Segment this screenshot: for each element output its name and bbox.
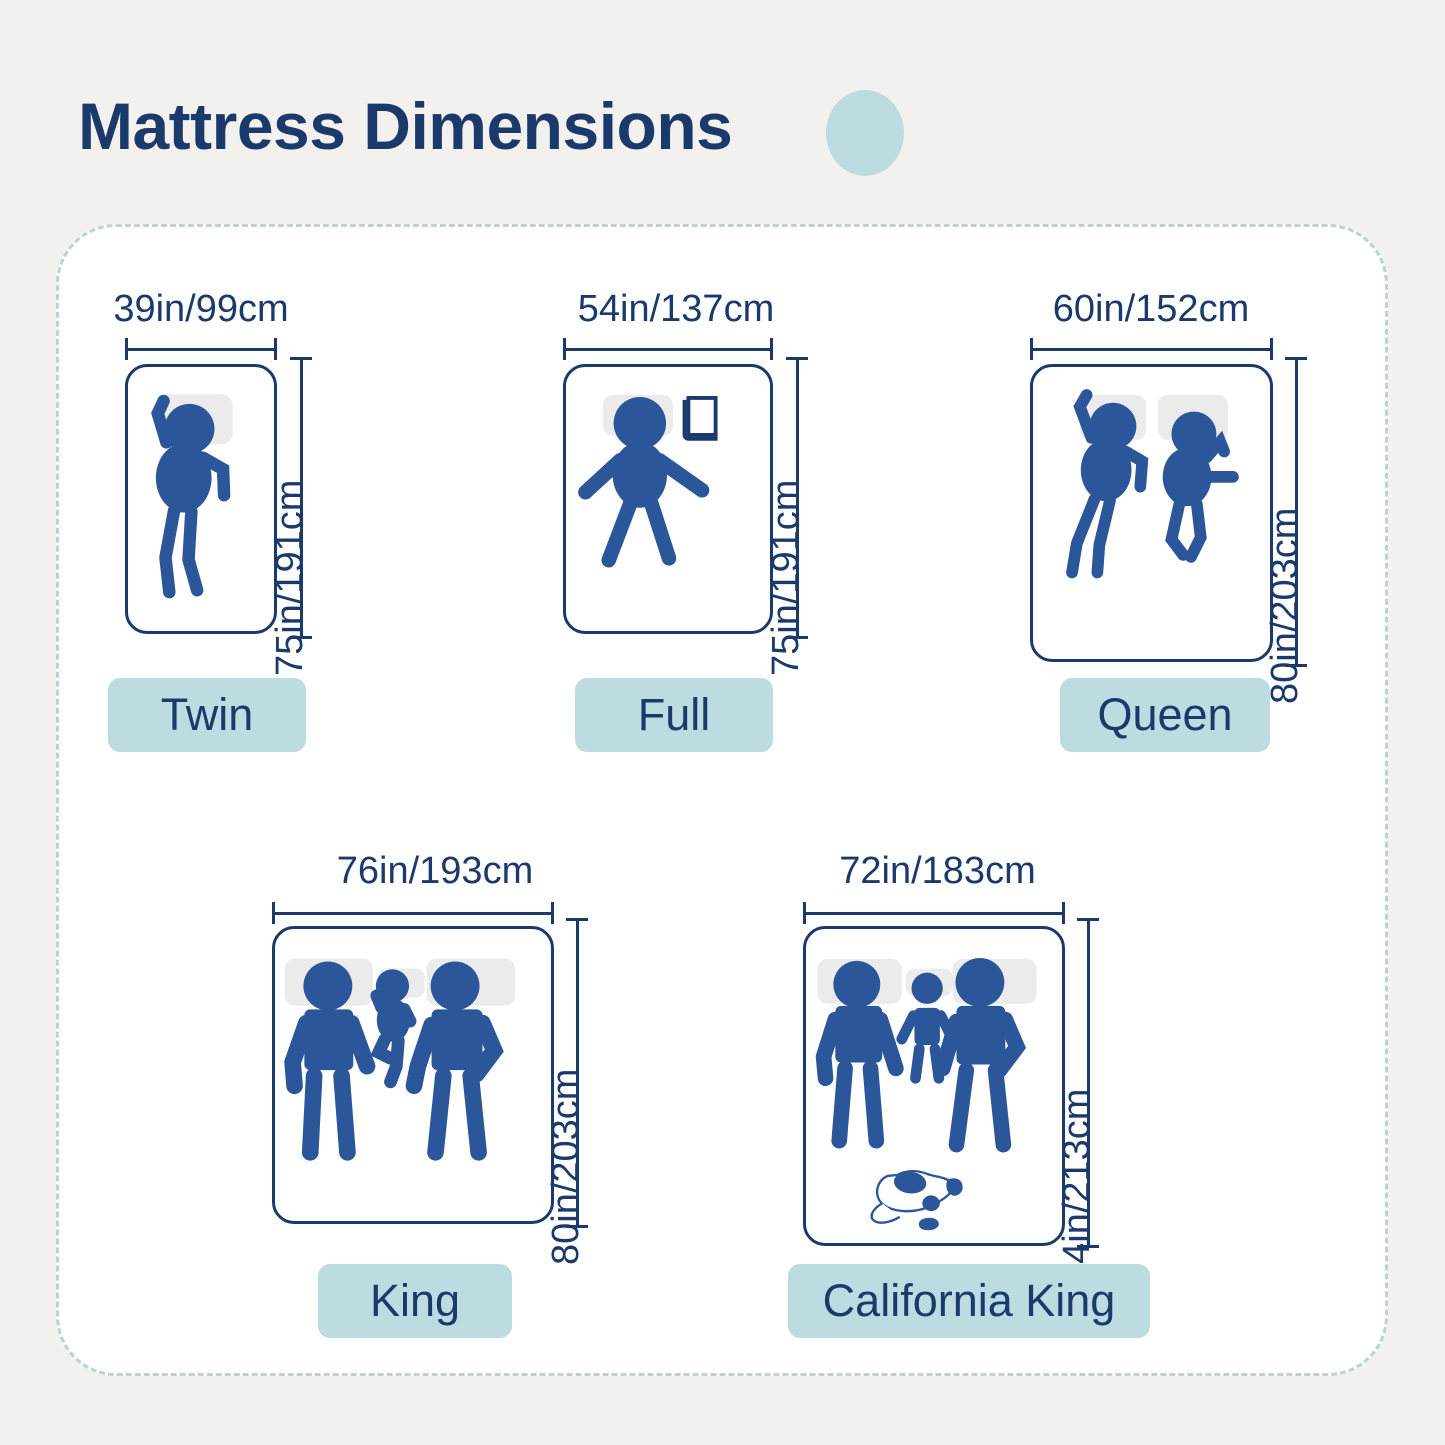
full-illustration: [566, 367, 770, 631]
full-width-measure: [563, 338, 773, 360]
queen-width-measure: [1030, 338, 1273, 360]
twin-width-label: 39in/99cm: [86, 288, 316, 331]
queen-width-label: 60in/152cm: [1022, 288, 1280, 331]
calking-width-label: 72in/183cm: [800, 850, 1075, 893]
bed-label-queen[interactable]: Queen: [1060, 678, 1270, 752]
twin-height-label: 75in/191cm: [269, 480, 312, 676]
king-width-label: 76in/193cm: [290, 850, 580, 893]
calking-mattress: [803, 926, 1065, 1246]
bed-label-california-king[interactable]: California King: [788, 1264, 1150, 1338]
king-width-measure: [272, 902, 554, 924]
twin-illustration: [128, 367, 274, 631]
queen-height-label: 80in/203cm: [1264, 508, 1307, 704]
page-title: Mattress Dimensions: [78, 78, 732, 174]
king-illustration: [275, 929, 551, 1221]
twin-mattress: [125, 364, 277, 634]
queen-illustration: [1033, 367, 1270, 659]
king-height-label: 80in/203cm: [545, 1069, 588, 1265]
infographic-page: Mattress Dimensions 39in/99cm: [0, 0, 1445, 1445]
calking-illustration: [806, 929, 1062, 1243]
calking-width-measure: [803, 902, 1065, 924]
full-mattress: [563, 364, 773, 634]
calking-height-label: 84in/213cm: [1056, 1089, 1099, 1285]
twin-width-measure: [125, 338, 277, 360]
title-accent-circle: [826, 90, 904, 176]
bed-label-full[interactable]: Full: [575, 678, 773, 752]
page-title-text: Mattress Dimensions: [78, 88, 732, 164]
queen-mattress: [1030, 364, 1273, 662]
bed-label-twin[interactable]: Twin: [108, 678, 306, 752]
book-icon: [685, 398, 718, 439]
bed-label-king[interactable]: King: [318, 1264, 512, 1338]
full-width-label: 54in/137cm: [550, 288, 802, 331]
king-mattress: [272, 926, 554, 1224]
full-height-label: 75in/191cm: [765, 480, 808, 676]
